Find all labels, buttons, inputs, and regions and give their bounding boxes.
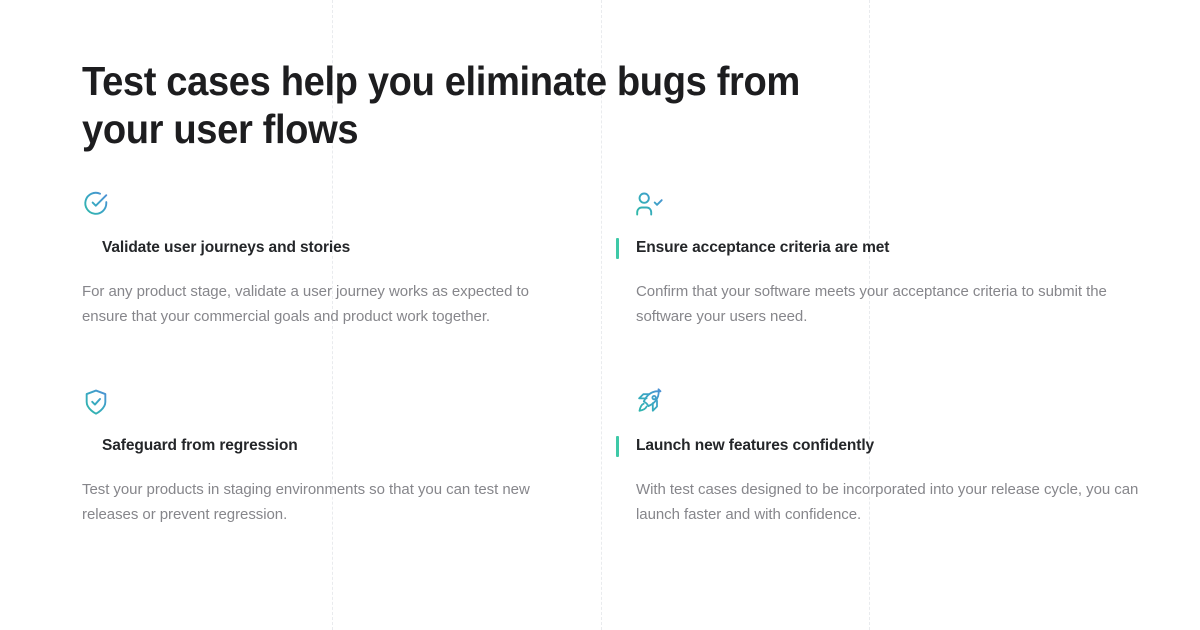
feature-card-title: Safeguard from regression (102, 437, 298, 455)
feature-grid: Validate user journeys and stories For a… (82, 190, 1182, 542)
feature-card-title-row: Ensure acceptance criteria are met (616, 237, 1152, 259)
marketing-feature-section: Test cases help you eliminate bugs from … (0, 0, 1200, 630)
feature-card-body: Test your products in staging environmen… (82, 477, 577, 527)
feature-card-body: With test cases designed to be incorpora… (616, 477, 1141, 527)
feature-card-title-row: Launch new features confidently (616, 435, 1152, 457)
rocket-icon (616, 388, 1152, 422)
feature-card-title: Ensure acceptance criteria are met (636, 239, 889, 257)
feature-card-safeguard-regression: Safeguard from regression Test your prod… (82, 388, 618, 542)
feature-card-body: Confirm that your software meets your ac… (616, 279, 1141, 329)
shield-check-icon (82, 388, 618, 422)
feature-card-title-row: Validate user journeys and stories (82, 237, 618, 259)
feature-card-title: Validate user journeys and stories (102, 239, 350, 257)
section-headline: Test cases help you eliminate bugs from … (82, 57, 817, 153)
feature-row: Safeguard from regression Test your prod… (82, 388, 1182, 542)
feature-row: Validate user journeys and stories For a… (82, 190, 1182, 344)
feature-card-title: Launch new features confidently (636, 437, 874, 455)
feature-card-body: For any product stage, validate a user j… (82, 279, 577, 329)
accent-bar (616, 238, 619, 259)
feature-card-acceptance-criteria: Ensure acceptance criteria are met Confi… (616, 190, 1152, 344)
feature-card-validate-user-journeys: Validate user journeys and stories For a… (82, 190, 618, 344)
user-check-icon (616, 190, 1152, 224)
accent-bar (616, 436, 619, 457)
section-content: Test cases help you eliminate bugs from … (82, 0, 1200, 630)
feature-card-title-row: Safeguard from regression (82, 435, 618, 457)
circle-check-icon (82, 190, 618, 224)
feature-card-launch-features: Launch new features confidently With tes… (616, 388, 1152, 542)
